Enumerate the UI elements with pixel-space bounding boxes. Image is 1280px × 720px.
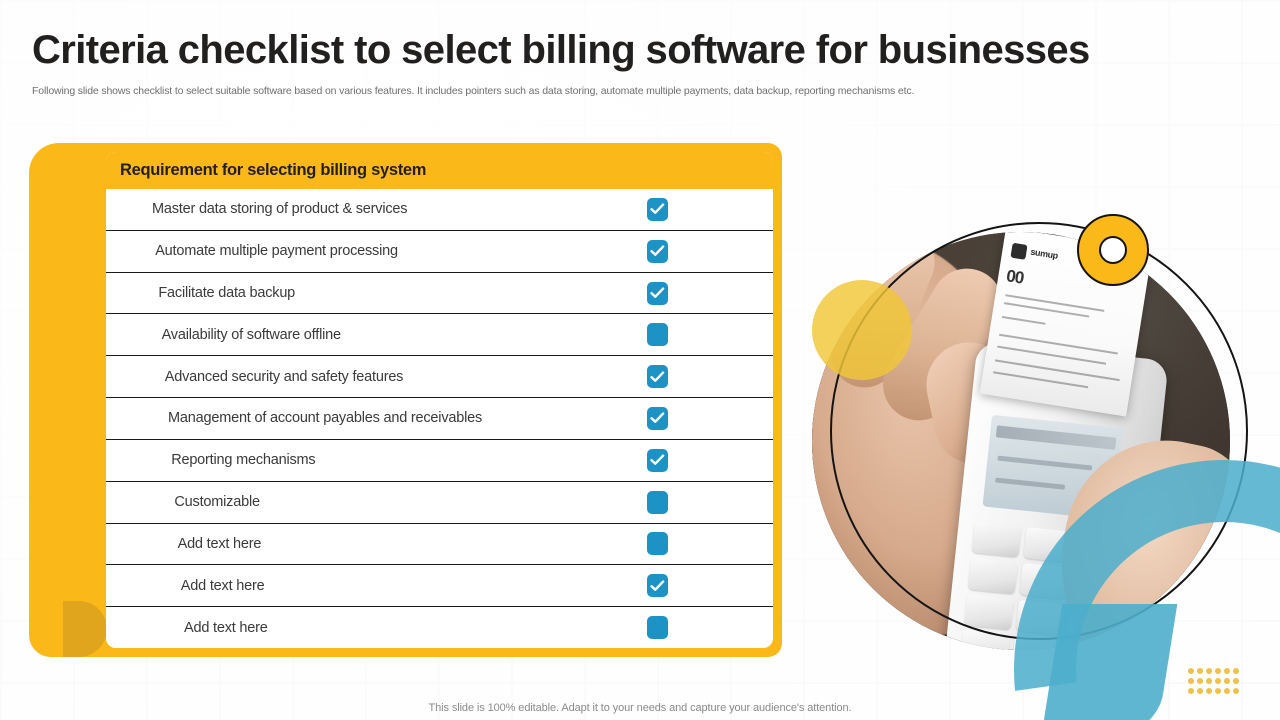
- slide-canvas: Criteria checklist to select billing sof…: [0, 0, 1280, 720]
- grid-dot: [1224, 678, 1230, 684]
- checklist-row[interactable]: Advanced security and safety features: [106, 356, 773, 398]
- checkbox-empty-icon[interactable]: [647, 532, 668, 555]
- checkbox-empty-icon[interactable]: [647, 491, 668, 514]
- checkbox-checked-icon[interactable]: [647, 407, 668, 430]
- checklist-row[interactable]: Customizable: [106, 482, 773, 524]
- checklist-row-label: Add text here: [184, 620, 268, 636]
- checklist-row-list: Master data storing of product & service…: [106, 189, 773, 648]
- grid-dot: [1224, 668, 1230, 674]
- checklist-row-label: Master data storing of product & service…: [152, 201, 407, 217]
- checklist-row[interactable]: Management of account payables and recei…: [106, 398, 773, 440]
- checklist-row[interactable]: Add text here: [106, 524, 773, 566]
- checklist-header-title: Requirement for selecting billing system: [120, 161, 426, 180]
- grid-dot: [1206, 688, 1212, 694]
- checklist-row-label: Availability of software offline: [162, 327, 341, 343]
- checkbox-checked-icon[interactable]: [647, 240, 668, 263]
- checkbox-checked-icon[interactable]: [647, 282, 668, 305]
- grid-dot: [1188, 678, 1194, 684]
- checklist-row-label: Advanced security and safety features: [165, 369, 403, 385]
- checkbox-empty-icon[interactable]: [647, 323, 668, 346]
- grid-dot: [1233, 688, 1239, 694]
- grid-dot: [1197, 688, 1203, 694]
- yellow-dot-grid: [1188, 668, 1242, 698]
- checklist-row-label: Add text here: [178, 536, 262, 552]
- checklist-header: Requirement for selecting billing system: [106, 152, 773, 189]
- checkbox-empty-icon[interactable]: [647, 616, 668, 639]
- checklist-row[interactable]: Facilitate data backup: [106, 273, 773, 315]
- checklist-row[interactable]: Automate multiple payment processing: [106, 231, 773, 273]
- checklist-row[interactable]: Add text here: [106, 607, 773, 648]
- checklist-row[interactable]: Reporting mechanisms: [106, 440, 773, 482]
- page-subtitle: Following slide shows checklist to selec…: [32, 85, 914, 97]
- grid-dot: [1206, 668, 1212, 674]
- checkbox-checked-icon[interactable]: [647, 574, 668, 597]
- grid-dot: [1215, 688, 1221, 694]
- grid-dot: [1233, 678, 1239, 684]
- checkbox-checked-icon[interactable]: [647, 365, 668, 388]
- footer-note: This slide is 100% editable. Adapt it to…: [0, 702, 1280, 714]
- checklist-row-label: Management of account payables and recei…: [168, 410, 482, 426]
- checklist-row[interactable]: Availability of software offline: [106, 314, 773, 356]
- grid-dot: [1215, 668, 1221, 674]
- checkbox-checked-icon[interactable]: [647, 449, 668, 472]
- grid-dot: [1206, 678, 1212, 684]
- grid-dot: [1188, 668, 1194, 674]
- checklist-row-label: Automate multiple payment processing: [155, 243, 398, 259]
- checklist-card: Requirement for selecting billing system…: [106, 152, 773, 648]
- yellow-donut-hole: [1099, 236, 1127, 264]
- grid-dot: [1215, 678, 1221, 684]
- checklist-row[interactable]: Add text here: [106, 565, 773, 607]
- checklist-row-label: Customizable: [174, 494, 259, 510]
- grid-dot: [1224, 688, 1230, 694]
- grid-dot: [1197, 668, 1203, 674]
- grid-dot: [1188, 688, 1194, 694]
- checklist-row[interactable]: Master data storing of product & service…: [106, 189, 773, 231]
- grid-dot: [1197, 678, 1203, 684]
- yellow-translucent-circle: [812, 280, 912, 380]
- checklist-row-label: Add text here: [181, 578, 265, 594]
- checkbox-checked-icon[interactable]: [647, 198, 668, 221]
- page-title: Criteria checklist to select billing sof…: [32, 28, 1090, 73]
- checklist-row-label: Facilitate data backup: [158, 285, 295, 301]
- grid-dot: [1233, 668, 1239, 674]
- checklist-row-label: Reporting mechanisms: [171, 452, 315, 468]
